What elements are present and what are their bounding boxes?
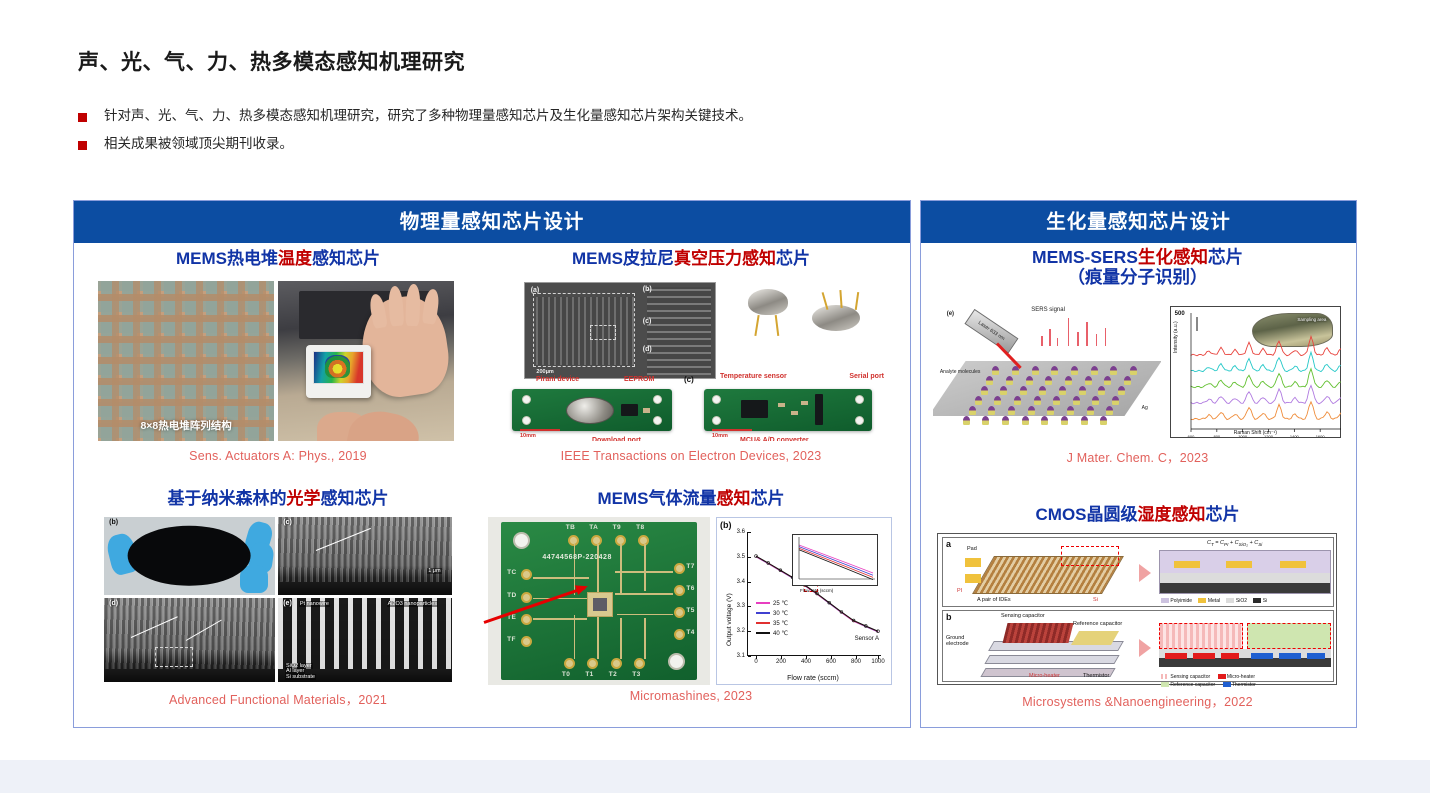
pad-label-TC: TC <box>507 569 516 576</box>
svg-text:1200: 1200 <box>1264 434 1274 437</box>
title-part: MEMS-SERS <box>1032 247 1138 267</box>
cell-gas-flow: MEMS气体流量感知芯片 <box>482 489 900 723</box>
x-tick: 1000 <box>871 659 884 665</box>
equivalent-circuit-a <box>1159 550 1331 594</box>
title-part: CMOS晶圆级 <box>1036 505 1138 524</box>
pcb-trace <box>533 577 590 579</box>
legend-swatch <box>756 622 770 624</box>
cell-title: 基于纳米森林的光学感知芯片 <box>82 489 474 509</box>
pirani-sensor-can <box>566 397 614 424</box>
nanoparticle <box>1130 366 1137 375</box>
pad-T1 <box>587 658 598 669</box>
legend-label: 40 ℃ <box>773 631 788 637</box>
nanoparticle <box>1104 376 1111 385</box>
nanoparticle <box>1085 376 1092 385</box>
nanoparticle <box>1081 416 1088 425</box>
nanoparticle <box>1100 416 1107 425</box>
panel-tag-e: (e) <box>283 600 292 607</box>
cell-thermopile: MEMS热电堆温度感知芯片 8×8热电堆阵列结构 <box>82 249 474 487</box>
nanoparticle <box>1098 386 1105 395</box>
nanoparticle <box>1065 376 1072 385</box>
label-reference-capacitor: Reference capacitor <box>1073 621 1122 627</box>
pcb-trace <box>644 544 646 591</box>
label-ides: A pair of IDEs <box>977 597 1011 603</box>
y-tick: 3.4 <box>728 579 745 585</box>
pad-label-TB: TB <box>566 524 575 531</box>
title-part: 芯片 <box>776 249 810 268</box>
pad-T4 <box>674 629 685 640</box>
svg-text:800: 800 <box>1213 434 1220 437</box>
smd-component <box>801 401 808 405</box>
sensing-capacitor-fins <box>1003 623 1074 643</box>
flow-arrow-icon <box>1139 564 1151 582</box>
thermal-camera-device <box>306 345 371 398</box>
mount-hole <box>712 395 721 404</box>
legend-item-25c: 25 ℃ <box>756 600 788 607</box>
sem-panel-tag-a: (a) <box>531 287 540 294</box>
title-part-highlight: 生化感知 <box>1138 247 1208 267</box>
sem-panel-tag-d: (d) <box>643 346 652 353</box>
panel-tag-c: (c) <box>684 375 694 384</box>
x-tick: 200 <box>776 659 786 665</box>
x-tickmark <box>878 656 879 659</box>
scale-label-10mm: 10mm <box>520 433 536 439</box>
nanoparticle <box>1124 376 1131 385</box>
nanoparticle <box>1022 416 1029 425</box>
cell-title: MEMS-SERS生化感知芯片 （痕量分子识别） <box>927 247 1348 288</box>
thermopile-array-image: 8×8热电堆阵列结构 <box>98 281 274 441</box>
svg-text:1400: 1400 <box>1290 434 1300 437</box>
legend-polyimide: Polyimide <box>1170 598 1192 604</box>
to-can-pin <box>839 290 842 308</box>
nanoparticle <box>994 396 1001 405</box>
cell-title: CMOS晶圆级湿度感知芯片 <box>927 505 1348 525</box>
nanoparticle-array <box>933 303 1161 441</box>
zoom-region <box>1061 546 1119 566</box>
legend-item-30c: 30 ℃ <box>756 610 788 617</box>
title-part-highlight: 湿度感知 <box>1138 505 1206 524</box>
panel-tag-d: (d) <box>109 600 118 607</box>
mount-hole <box>522 395 531 404</box>
sem-nanostructure-c: 1 μm (c) <box>278 517 452 595</box>
nanoparticle <box>1014 396 1021 405</box>
nanoparticle <box>1002 416 1009 425</box>
title-part-highlight: 温度 <box>278 249 312 268</box>
legend-swatch <box>756 612 770 614</box>
cell-cmos-humidity: CMOS晶圆级湿度感知芯片 a Pad PI A pair of IDEs Si <box>927 505 1348 723</box>
nanoparticle <box>1059 386 1066 395</box>
figure-cmos-humidity: a Pad PI A pair of IDEs Si <box>937 533 1337 685</box>
nanoparticle <box>981 386 988 395</box>
pirani-module-pcb <box>512 389 672 431</box>
pad-label-T8: T8 <box>636 524 644 531</box>
title-part: 芯片 <box>1208 247 1243 267</box>
label-pad: Pad <box>967 546 977 552</box>
panel-right-header: 生化量感知芯片设计 <box>921 201 1356 243</box>
scale-bar <box>712 429 752 431</box>
mount-hole <box>653 416 662 425</box>
figure-flow-response-chart: (b) Output voltage (V) Flow rate (sccm) … <box>716 517 892 685</box>
title-part: 感知芯片 <box>312 249 380 268</box>
sem-label-pt-nanowire: Pt nanowire <box>299 601 330 607</box>
pcb-trace <box>574 615 576 659</box>
pcb-trace <box>597 615 599 659</box>
y-tick: 3.2 <box>728 628 745 634</box>
y-tick: 3.6 <box>728 529 745 535</box>
label-si: Si <box>1093 597 1098 603</box>
array-label: 8×8热电堆阵列结构 <box>98 418 274 433</box>
board-serial-number: 44744568P-220428 <box>542 554 612 561</box>
cell-caption: J Mater. Chem. C，2023 <box>927 447 1348 466</box>
bond-pad <box>965 558 981 567</box>
nanoparticle <box>1039 386 1046 395</box>
svg-text:600: 600 <box>1187 434 1194 437</box>
nanoparticle <box>986 376 993 385</box>
pad-label-T3: T3 <box>632 671 640 678</box>
sem-nanostructure-d: (d) <box>104 598 275 682</box>
pcb-trace <box>615 571 674 573</box>
inset-series-lines <box>793 535 879 587</box>
sem-structure-right <box>647 287 712 375</box>
panel-biochemical-sensing: 生化量感知芯片设计 MEMS-SERS生化感知芯片 （痕量分子识别） (e) S… <box>920 200 1357 728</box>
svg-text:1000: 1000 <box>1238 434 1248 437</box>
mount-hole <box>855 395 864 404</box>
legend-item-40c: 40 ℃ <box>756 630 788 637</box>
pad-label-T7: T7 <box>686 563 694 570</box>
thermal-image-screen <box>313 351 364 384</box>
label-sensing-capacitor: Sensing capacitor <box>1001 613 1045 619</box>
flow-arrow-icon <box>1139 639 1151 657</box>
cell-title-line2: （痕量分子识别） <box>927 267 1348 287</box>
annotation-eeprom: EEPROM <box>624 376 654 383</box>
glove-finger <box>240 565 267 593</box>
pad-label-T2: T2 <box>609 671 617 678</box>
sem-scale-label: 200μm <box>536 369 553 375</box>
legend-thermistor: Thermistor <box>1232 682 1256 688</box>
reference-capacitor <box>1071 631 1119 645</box>
sem-zoom-box <box>590 325 617 340</box>
panel-physical-sensing: 物理量感知芯片设计 MEMS热电堆温度感知芯片 8×8热电堆阵列结构 <box>73 200 911 728</box>
title-part: 基于纳米森林的 <box>168 489 287 508</box>
nanoparticle <box>1034 396 1041 405</box>
pcb-board: 44744568P-220428 TB TA T9 T8 T7 T6 T5 T4… <box>501 522 696 680</box>
x-tick: 0 <box>754 659 757 665</box>
pcb-trace <box>620 544 622 595</box>
chart-inset <box>792 534 878 586</box>
black-silicon-wafer-photo: (b) <box>104 517 275 595</box>
pcb-trace <box>615 593 674 595</box>
figure-pirani: (a) (b) (c) (d) 200μm <box>492 279 892 441</box>
legend-components: Sensing capacitor Micro-heater <box>1161 674 1255 680</box>
sensor-die <box>587 592 612 617</box>
thumb-shape <box>343 405 423 441</box>
label-micro-heater: Micro-heater <box>1029 673 1060 679</box>
smd-component <box>778 403 785 407</box>
pad-T2 <box>611 658 622 669</box>
nanoparticle <box>1032 366 1039 375</box>
x-tickmark <box>781 656 782 659</box>
nanoparticle <box>1028 406 1035 415</box>
nanoparticle <box>988 406 995 415</box>
list-item: 针对声、光、气、力、热多模态感知机理研究，研究了多种物理量感知芯片及生化量感知芯… <box>78 108 1358 125</box>
mount-hole <box>522 416 531 425</box>
cell-pirani: MEMS皮拉尼真空压力感知芯片 (a) (b) (c) (d) 200μm <box>482 249 900 487</box>
nanoparticle <box>975 396 982 405</box>
device-layer <box>984 655 1119 664</box>
subpanel-b: b Sensing capacitor Reference capacitor … <box>942 610 1334 682</box>
pad-T5 <box>674 607 685 618</box>
substrate-layer <box>278 582 452 594</box>
raman-trace-lines: 60080010001200140016001800 <box>1181 309 1341 437</box>
to-can-package-2 <box>812 305 860 331</box>
nanoparticle <box>1118 386 1125 395</box>
nanoparticle <box>992 366 999 375</box>
nanoparticle <box>969 406 976 415</box>
chart-x-axis-label: Flow rate (sccm) <box>743 675 883 682</box>
nanoparticle <box>1112 396 1119 405</box>
nanoparticle <box>1045 376 1052 385</box>
legend-materials: Polyimide Metal SiO2 Si <box>1161 598 1267 604</box>
sem-nanostructure-e: Pt nanowire Al2O3 nanoparticles SiO2 lay… <box>278 598 452 682</box>
title-part: 芯片 <box>751 489 785 508</box>
nanoparticle <box>1000 386 1007 395</box>
pad-TC <box>521 569 532 580</box>
nanoparticle <box>1079 386 1086 395</box>
scale-label-10mm: 10mm <box>712 433 728 439</box>
cell-sers: MEMS-SERS生化感知芯片 （痕量分子识别） (e) SERS signal <box>927 247 1348 507</box>
thermal-imager-photo <box>278 281 454 441</box>
nanoparticle <box>1106 406 1113 415</box>
nanoparticle <box>1026 376 1033 385</box>
svg-text:1600: 1600 <box>1315 434 1325 437</box>
panel-tag-b: b <box>946 612 952 622</box>
to-can-pin <box>855 292 859 310</box>
legend-reference-capacitor: Reference capacitor <box>1170 682 1215 688</box>
cell-caption: Sens. Actuators A: Phys., 2019 <box>82 449 474 463</box>
figure-thermopile: 8×8热电堆阵列结构 <box>98 281 454 441</box>
pad-label-T0: T0 <box>562 671 570 678</box>
nanoparticle <box>1053 396 1060 405</box>
pad-label-T6: T6 <box>686 585 694 592</box>
capacitance-equation: CT = CPI + CSiO₂ + CSi <box>1207 540 1262 547</box>
panel-tag-c: (c) <box>283 519 292 526</box>
nanoparticle <box>1051 366 1058 375</box>
slide-root: 声、光、气、力、热多模态感知机理研究 针对声、光、气、力、热多模态感知机理研究，… <box>0 0 1430 760</box>
nanoparticle <box>982 416 989 425</box>
pad-label-TF: TF <box>507 636 516 643</box>
title-part: MEMS热电堆 <box>176 249 278 268</box>
cell-caption: IEEE Transactions on Electron Devices, 2… <box>482 449 900 463</box>
annotation-pirani-device: Pirani device <box>536 376 579 383</box>
to-can-pin <box>754 315 759 336</box>
sers-schematic: (e) SERS signal <box>933 303 1161 441</box>
inset-x-axis-label: Flow rate (sccm) <box>800 588 833 593</box>
x-tickmark <box>831 656 832 659</box>
legend-micro-heater: Micro-heater <box>1227 674 1255 680</box>
annotation-mcu-adc: MCU& A/D converter <box>740 437 809 441</box>
sem-label-al2o3: Al2O3 nanoparticles <box>387 601 439 607</box>
pcb-trace <box>644 618 646 659</box>
subpanel-a: a Pad PI A pair of IDEs Si <box>942 537 1334 607</box>
cell-caption: Advanced Functional Materials，2021 <box>82 689 474 708</box>
equivalent-circuit-b <box>1159 623 1331 667</box>
pad-TF <box>521 636 532 647</box>
nanoparticle <box>1071 366 1078 375</box>
cell-nano-forest: 基于纳米森林的光学感知芯片 (b) 1 <box>82 489 474 723</box>
mount-hole <box>513 532 530 549</box>
title-part: 芯片 <box>1206 505 1240 524</box>
panel-left-header: 物理量感知芯片设计 <box>74 201 910 243</box>
pcb-trace <box>533 598 590 600</box>
legend-si: Si <box>1263 598 1267 604</box>
raman-spectra-chart: 500 Intensity (a.u.) Raman Shift (cm⁻¹) … <box>1170 306 1341 438</box>
title-part: MEMS气体流量 <box>598 489 717 508</box>
annotation-temperature-sensor: Temperature sensor <box>720 373 787 380</box>
figure-nano-forest: (b) 1 μm (c) ( <box>104 517 452 682</box>
cell-title: MEMS气体流量感知芯片 <box>482 489 900 509</box>
pad-T3 <box>634 658 645 669</box>
bond-pad <box>965 574 981 583</box>
nanoparticle <box>1006 376 1013 385</box>
scale-bar <box>520 429 560 431</box>
label-pi: PI <box>957 588 962 594</box>
substrate-layer <box>104 669 275 682</box>
array-grid-texture-2 <box>98 281 274 441</box>
pad-TE <box>521 614 532 625</box>
nanoparticle <box>1110 366 1117 375</box>
legend-components-2: Reference capacitor Thermistor <box>1161 682 1256 688</box>
legend-label: 30 ℃ <box>773 611 788 617</box>
y-tickmark <box>748 656 751 657</box>
sem-panel-tag-c: (c) <box>643 318 652 325</box>
cell-caption: Microsystems &Nanoengineering，2022 <box>927 691 1348 710</box>
nanoparticle <box>1092 396 1099 405</box>
pad-label-T1: T1 <box>585 671 593 678</box>
list-item: 相关成果被领域顶尖期刊收录。 <box>78 136 1358 153</box>
panel-tag-b: (b) <box>109 519 118 526</box>
annotation-serial-port: Serial port <box>849 373 884 380</box>
legend-swatch <box>756 632 770 634</box>
pad-T7 <box>674 563 685 574</box>
legend-swatch <box>756 602 770 604</box>
y-tick: 3.3 <box>728 603 745 609</box>
smd-component <box>791 411 798 415</box>
raman-y-axis-label: Intensity (a.u.) <box>1173 321 1179 353</box>
pcb-trace <box>617 614 674 616</box>
mount-hole <box>712 416 721 425</box>
square-bullet-icon <box>78 141 87 150</box>
pcb-trace <box>597 544 599 595</box>
pcb-trace <box>620 618 622 659</box>
black-wafer <box>128 526 251 586</box>
figure-sers: (e) SERS signal <box>933 303 1341 441</box>
legend-metal: Metal <box>1208 598 1220 604</box>
x-tick: 400 <box>801 659 811 665</box>
pad-TD <box>521 592 532 603</box>
mount-hole <box>653 395 662 404</box>
panel-right-body: MEMS-SERS生化感知芯片 （痕量分子识别） (e) SERS signal <box>921 243 1356 727</box>
nanoparticle <box>1067 406 1074 415</box>
chart-plot-area: 3.1 3.2 3.3 3.4 3.5 3.6 0 <box>747 532 881 656</box>
nanoparticle <box>1041 416 1048 425</box>
to-can-pin <box>775 315 780 336</box>
y-tick: 3.5 <box>728 554 745 560</box>
pad-label-TD: TD <box>507 592 516 599</box>
chart-annotation-sensor: Sensor A <box>855 636 879 642</box>
cell-title: MEMS热电堆温度感知芯片 <box>82 249 474 269</box>
annotation-download-port: Download port <box>592 437 641 441</box>
readout-module-pcb <box>704 389 872 431</box>
sem-label-substrate: Si substrate <box>285 674 316 680</box>
nanoparticle <box>1073 396 1080 405</box>
title-part: MEMS皮拉尼 <box>572 249 674 268</box>
to-can-package-1 <box>748 289 788 315</box>
bullet-text: 针对声、光、气、力、热多模态感知机理研究，研究了多种物理量感知芯片及生化量感知芯… <box>104 108 752 125</box>
mcu-chip <box>741 400 768 418</box>
nanoparticle <box>1012 366 1019 375</box>
pad-T0 <box>564 658 575 669</box>
x-tick: 800 <box>851 659 861 665</box>
eeprom-chip <box>621 404 639 416</box>
zoom-box <box>155 647 193 667</box>
nanoparticle <box>963 416 970 425</box>
sem-label: 1 μm <box>427 568 441 574</box>
pad-label-T9: T9 <box>613 524 621 531</box>
nanoparticle <box>1020 386 1027 395</box>
sem-panel-tag-b: (b) <box>643 286 652 293</box>
label-thermistor: Thermistor <box>1083 673 1109 679</box>
square-bullet-icon <box>78 113 87 122</box>
nanoparticle <box>1087 406 1094 415</box>
smd-component <box>643 408 649 413</box>
cell-title: MEMS皮拉尼真空压力感知芯片 <box>482 249 900 269</box>
nanoparticle <box>1008 406 1015 415</box>
cell-caption: Micromashines, 2023 <box>482 689 900 703</box>
legend-item-35c: 35 ℃ <box>756 620 788 627</box>
title-part-highlight: 真空压力感知 <box>674 249 776 268</box>
sem-outline <box>533 293 636 367</box>
bullet-list: 针对声、光、气、力、热多模态感知机理研究，研究了多种物理量感知芯片及生化量感知芯… <box>78 108 1358 164</box>
panel-left-body: MEMS热电堆温度感知芯片 8×8热电堆阵列结构 <box>74 243 910 727</box>
x-tick: 600 <box>826 659 836 665</box>
mount-hole <box>668 653 685 670</box>
x-tickmark <box>756 656 757 659</box>
legend-label: 35 ℃ <box>773 621 788 627</box>
title-part-highlight: 感知 <box>717 489 751 508</box>
nanoparticle <box>1061 416 1068 425</box>
x-tickmark <box>806 656 807 659</box>
chart-y-axis-label: Output voltage (V) <box>726 593 733 646</box>
legend-sensing-capacitor: Sensing capacitor <box>1170 674 1210 680</box>
title-part: 感知芯片 <box>321 489 389 508</box>
y-tick: 3.1 <box>728 653 745 659</box>
figure-gas-flow-pcb: 44744568P-220428 TB TA T9 T8 T7 T6 T5 T4… <box>488 517 710 685</box>
legend-sio2: SiO2 <box>1236 598 1247 604</box>
x-tickmark <box>856 656 857 659</box>
legend-label: 25 ℃ <box>773 601 788 607</box>
nanoparticle <box>1091 366 1098 375</box>
pad-label-T4: T4 <box>686 629 694 636</box>
page-title: 声、光、气、力、热多模态感知机理研究 <box>78 46 465 76</box>
serial-header <box>815 394 823 425</box>
pad-label-T5: T5 <box>686 607 694 614</box>
pad-label-TA: TA <box>589 524 598 531</box>
sem-micrograph: (a) (b) (c) (d) 200μm <box>524 282 716 379</box>
pcb-trace <box>533 618 588 620</box>
bullet-text: 相关成果被领域顶尖期刊收录。 <box>104 136 293 153</box>
panel-tag-a: a <box>946 539 951 549</box>
label-ground-electrode: Ground electrode <box>946 635 980 647</box>
